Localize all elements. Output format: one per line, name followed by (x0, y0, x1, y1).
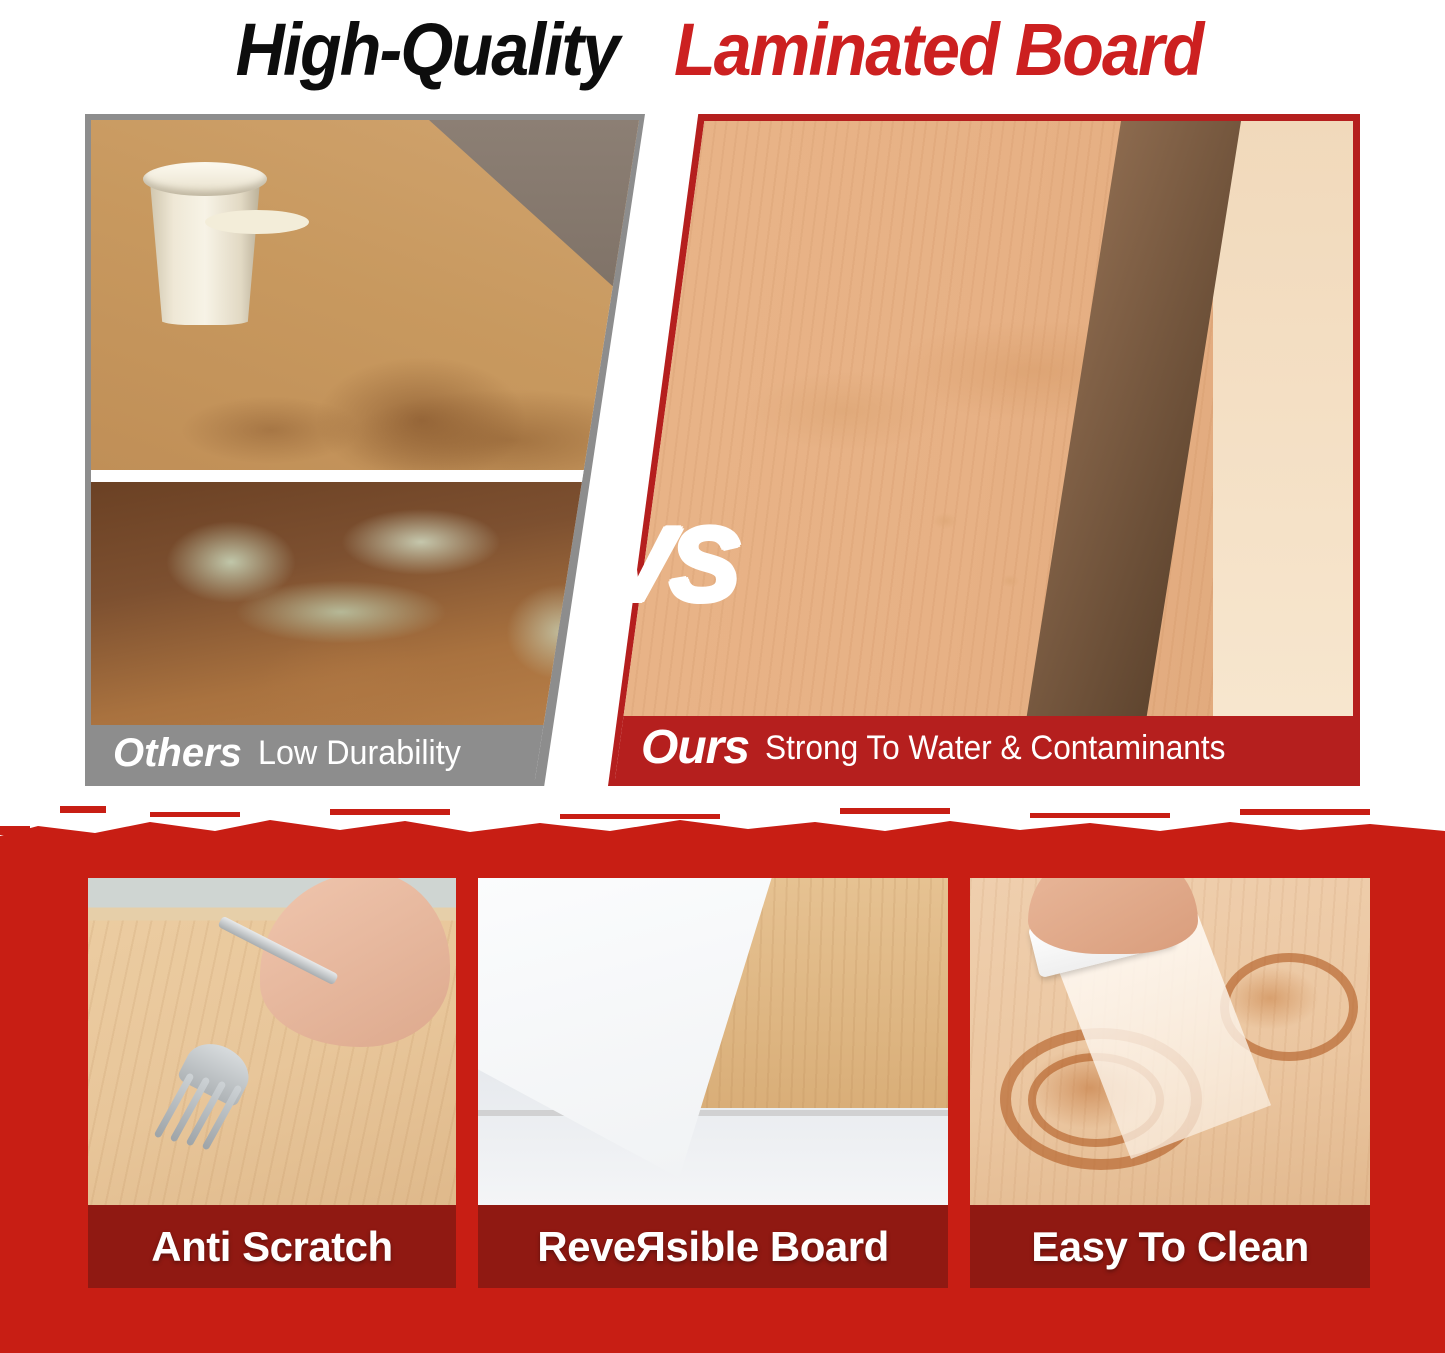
paint-fleck (1030, 813, 1170, 818)
paint-fleck (1240, 809, 1370, 815)
hand (1028, 878, 1198, 954)
white-and-wood-reversible-panels-photo (478, 878, 948, 1205)
others-panel-inner: Others Low Durability (91, 120, 639, 780)
panel-shadow-line (478, 1110, 948, 1116)
wall-corner (429, 120, 639, 310)
feature-label-reversible-pre: Reve (537, 1226, 635, 1268)
feature-card-anti-scratch[interactable]: Anti Scratch (88, 878, 456, 1288)
others-panel: Others Low Durability (85, 114, 645, 786)
water-beading-on-laminate-edge-photo (615, 121, 1353, 716)
ours-panel: Ours Strong To Water & Contaminants (608, 114, 1360, 786)
feature-label-easy-to-clean: Easy To Clean (970, 1205, 1370, 1288)
feature-card-reversible-board[interactable]: ReveRsible Board (478, 878, 948, 1288)
ours-sub-label: Strong To Water & Contaminants (765, 731, 1225, 765)
others-caption-bar: Others Low Durability (91, 725, 639, 780)
paint-fleck (60, 806, 106, 813)
feature-label-anti-scratch: Anti Scratch (88, 1205, 456, 1288)
ours-caption-bar: Ours Strong To Water & Contaminants (615, 716, 1353, 779)
board-side-edge (1027, 121, 1241, 716)
ours-lead-label: Ours (641, 724, 749, 772)
feature-label-reversible-flipped-r: R (636, 1226, 666, 1268)
features-section: Anti Scratch ReveRsible Board E (0, 860, 1445, 1353)
paper-cup-rim (143, 162, 267, 196)
coffee-spill-on-cardboard-photo (91, 120, 639, 470)
features-card-row: Anti Scratch ReveRsible Board E (88, 878, 1370, 1288)
cloth-wiping-sauce-off-laminate-photo (970, 878, 1370, 1205)
fork-scratching-laminate-photo (88, 878, 456, 1205)
feature-card-easy-to-clean[interactable]: Easy To Clean (970, 878, 1370, 1288)
page-title: High-Quality Laminated Board (0, 0, 1445, 100)
feature-label-reversible-board: ReveRsible Board (478, 1205, 948, 1288)
paint-fleck (150, 812, 240, 817)
vs-badge: VS (585, 510, 755, 620)
page-title-part1: High-Quality (236, 13, 619, 87)
paper-cup-liquid (205, 210, 309, 234)
others-sub-label: Low Durability (258, 736, 461, 770)
photo-divider (91, 470, 639, 482)
paint-fleck (0, 826, 30, 835)
paint-fleck (840, 808, 950, 814)
page-title-part2: Laminated Board (674, 13, 1202, 87)
paint-fleck (560, 814, 720, 819)
comparison-section: Others Low Durability Ours Strong To Wat… (0, 100, 1445, 800)
ours-panel-inner: Ours Strong To Water & Contaminants (615, 121, 1353, 779)
feature-label-reversible-post: sible Board (666, 1226, 889, 1268)
paint-fleck (330, 809, 450, 815)
others-lead-label: Others (113, 733, 242, 773)
background-wall (1213, 121, 1353, 716)
mold-growth-on-board-photo (91, 482, 639, 725)
